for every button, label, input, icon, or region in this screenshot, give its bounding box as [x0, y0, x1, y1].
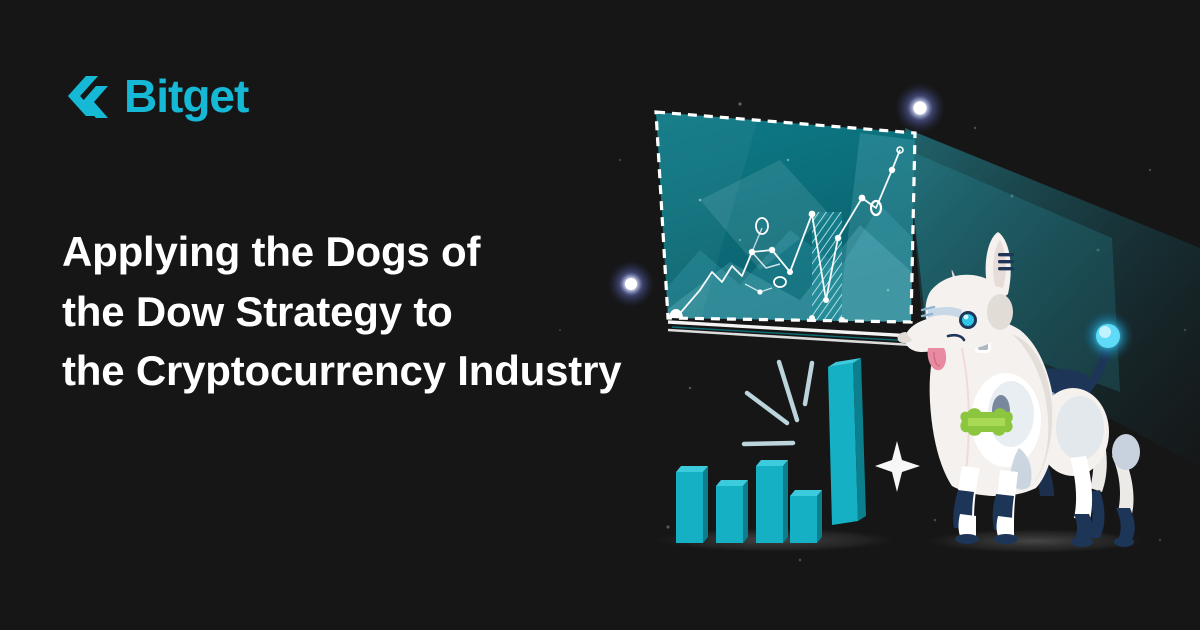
- bar-3: [756, 460, 788, 543]
- bar-2: [716, 480, 748, 543]
- bone-badge-icon: [960, 408, 1012, 436]
- page-title-line-2: the Dow Strategy to: [62, 282, 682, 342]
- holographic-screen[interactable]: [656, 112, 915, 345]
- bar-5: [828, 358, 866, 525]
- page-title-line-3: the Cryptocurrency Industry: [62, 341, 682, 401]
- bar-4: [790, 490, 822, 543]
- robot-dog-ear-vents: [998, 253, 1014, 270]
- poster-canvas: Bitget Applying the Dogs of the Dow Stra…: [0, 0, 1200, 630]
- brand-name: Bitget: [124, 73, 248, 119]
- four-point-star-sparkle: [875, 441, 920, 492]
- robot-dog-leg-hind-far-2: [1112, 434, 1140, 547]
- page-title-line-1: Applying the Dogs of: [62, 222, 682, 282]
- bar-1: [676, 466, 708, 543]
- teal-bar-chart[interactable]: [676, 358, 866, 543]
- brand-logo[interactable]: Bitget: [60, 72, 248, 120]
- burst-lines: [744, 362, 812, 444]
- bitget-double-chevron-icon: [60, 72, 112, 120]
- page-title: Applying the Dogs of the Dow Strategy to…: [62, 222, 682, 401]
- glow-star-top-right: [894, 82, 946, 134]
